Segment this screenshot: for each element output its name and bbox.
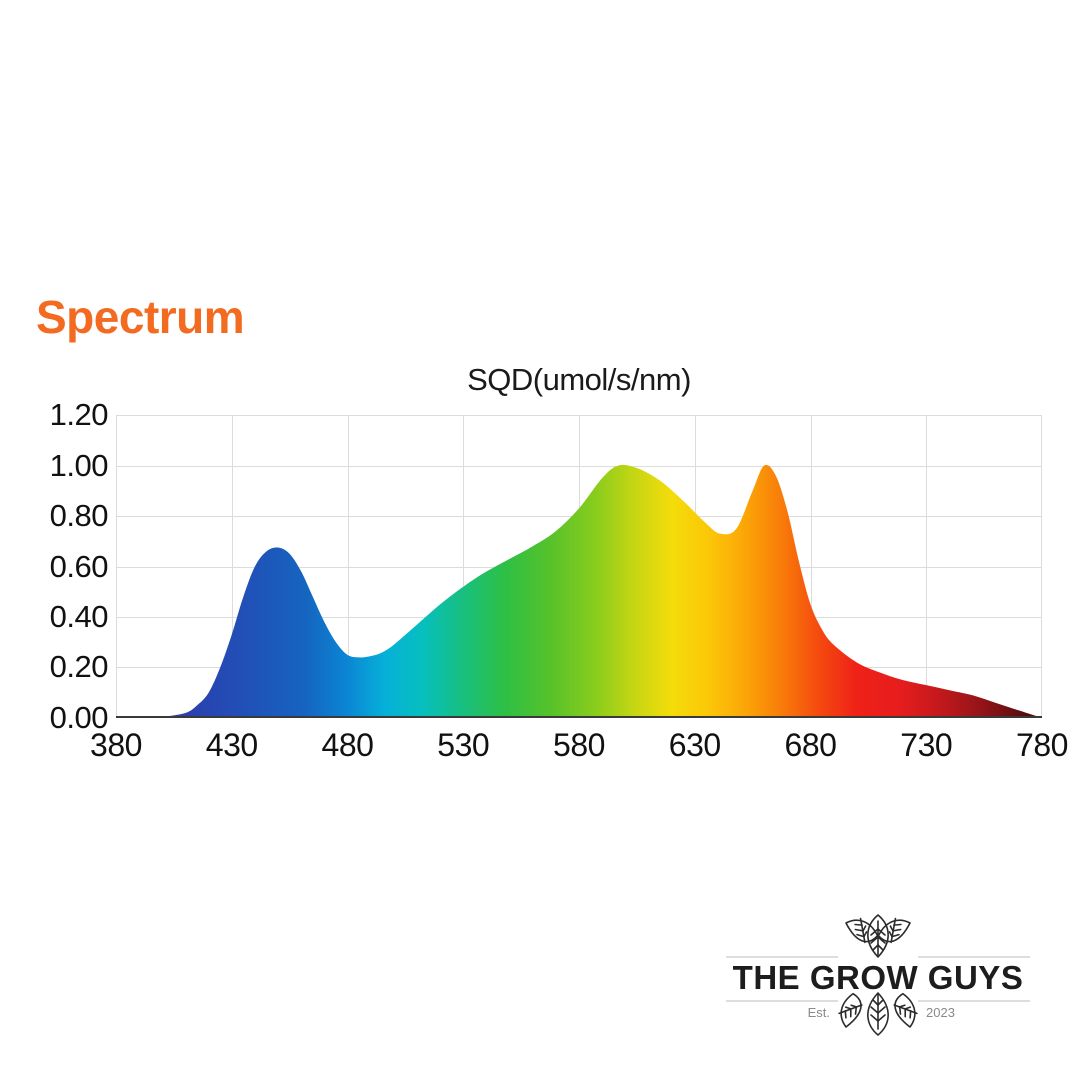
y-tick-label: 0.20 — [8, 649, 108, 685]
x-tick-label: 780 — [982, 727, 1080, 764]
x-tick-label: 580 — [519, 727, 639, 764]
plot-area — [116, 415, 1042, 718]
spectrum-chart: SQD(umol/s/nm) 1.20 1.00 0.80 0.60 0.40 … — [0, 355, 1080, 775]
x-tick-label: 430 — [172, 727, 292, 764]
brand-logo: THE GROW GUYS Est. 2023 — [718, 905, 1038, 1045]
leaf-cluster-top-icon — [845, 912, 911, 957]
y-tick-label: 0.80 — [8, 498, 108, 534]
y-tick-label: 1.00 — [8, 448, 108, 484]
y-tick-label: 1.20 — [8, 397, 108, 433]
spectrum-curve — [116, 415, 1042, 718]
x-tick-label: 630 — [635, 727, 755, 764]
y-axis: 1.20 1.00 0.80 0.60 0.40 0.20 0.00 — [8, 415, 108, 718]
x-tick-label: 380 — [56, 727, 176, 764]
x-axis: 380 430 480 530 580 630 680 730 780 — [116, 727, 1042, 773]
logo-est-label: Est. — [808, 1005, 830, 1020]
x-axis-line — [116, 716, 1042, 718]
logo-brand-name: THE GROW GUYS — [733, 959, 1024, 996]
chart-title: SQD(umol/s/nm) — [116, 362, 1042, 398]
page-title: Spectrum — [36, 294, 244, 340]
x-tick-label: 730 — [866, 727, 986, 764]
y-tick-label: 0.40 — [8, 599, 108, 635]
x-tick-label: 530 — [403, 727, 523, 764]
x-tick-label: 680 — [751, 727, 871, 764]
y-tick-label: 0.60 — [8, 549, 108, 585]
logo-est-year: 2023 — [926, 1005, 955, 1020]
leaf-cluster-bottom-icon — [833, 993, 923, 1035]
x-tick-label: 480 — [288, 727, 408, 764]
